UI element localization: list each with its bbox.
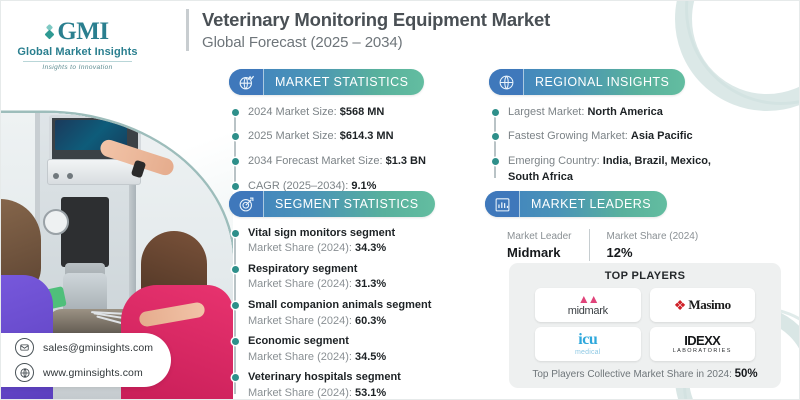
regional-insights-list: Largest Market: North America Fastest Gr… [489, 105, 740, 187]
brand-full-name: Global Market Insights [15, 46, 140, 58]
list-item: 2025 Market Size: $614.3 MN [248, 129, 426, 145]
bullet-dot-icon [232, 158, 239, 165]
region-label: Emerging Country: [508, 155, 600, 167]
brand-tagline: Insights to Innovation [15, 64, 140, 71]
list-item: Small companion animals segment Market S… [248, 298, 435, 329]
market-leader-share-block: Market Share (2024) 12% [589, 229, 716, 262]
market-statistics-list: 2024 Market Size: $568 MN 2025 Market Si… [229, 105, 426, 196]
list-item: Veterinary hospitals segment Market Shar… [248, 370, 435, 400]
bullet-dot-icon [492, 158, 499, 165]
player-logo-masimo[interactable]: ❖ Masimo [650, 288, 756, 322]
market-leaders-label: MARKET LEADERS [519, 191, 667, 217]
masimo-mark-icon: ❖ [674, 298, 687, 312]
segment-share-value: 34.5% [355, 351, 386, 363]
region-value: North America [587, 106, 662, 118]
list-item: Emerging Country: India, Brazil, Mexico,… [508, 154, 740, 186]
top-players-title: TOP PLAYERS [519, 270, 771, 282]
page-title: Veterinary Monitoring Equipment Market [202, 9, 550, 31]
midmark-mark-icon: ▲▲ [578, 293, 598, 305]
list-item: 2024 Market Size: $568 MN [248, 105, 426, 121]
idexx-logo: IDEXX LABORATORIES [673, 334, 732, 355]
segment-share-label: Market Share (2024): [248, 351, 352, 363]
segment-name: Economic segment [248, 334, 435, 350]
segment-statistics-list: Vital sign monitors segment Market Share… [229, 226, 435, 400]
top-players-collective-share: Top Players Collective Market Share in 2… [519, 368, 771, 380]
segment-name: Small companion animals segment [248, 298, 435, 314]
brand-name: GMI [57, 19, 108, 44]
envelope-icon [15, 338, 34, 357]
page-title-block: Veterinary Monitoring Equipment Market G… [186, 9, 550, 51]
bullet-dot-icon [492, 109, 499, 116]
segment-share-label: Market Share (2024): [248, 315, 352, 327]
segment-share-label: Market Share (2024): [248, 242, 352, 254]
player-logo-icu-medical[interactable]: icu medical [535, 327, 641, 361]
segment-name: Respiratory segment [248, 262, 435, 278]
stat-label: 2024 Market Size: [248, 106, 337, 118]
player-name: midmark [568, 306, 608, 317]
contact-email-row[interactable]: sales@gminsights.com [15, 338, 171, 357]
bullet-dot-icon [232, 302, 239, 309]
list-item: Fastest Growing Market: Asia Pacific [508, 129, 740, 145]
list-item: Respiratory segment Market Share (2024):… [248, 262, 435, 293]
regional-insights-section: REGIONAL INSIGHTS Largest Market: North … [489, 69, 740, 186]
segment-statistics-section: SEGMENT STATISTICS Vital sign monitors s… [229, 191, 435, 400]
bullet-dot-icon [232, 109, 239, 116]
globe-icon [489, 69, 523, 95]
list-item: Largest Market: North America [508, 105, 740, 121]
top-players-grid: ▲▲ midmark ❖ Masimo icu medical IDEXX [519, 288, 771, 361]
segment-share-value: 31.3% [355, 278, 386, 290]
stat-label: 2034 Forecast Market Size: [248, 155, 383, 167]
regional-insights-header: REGIONAL INSIGHTS [489, 69, 685, 95]
list-connector-line [234, 111, 235, 188]
region-value: Asia Pacific [631, 130, 693, 142]
bullet-dot-icon [232, 133, 239, 140]
player-name: icu [578, 332, 597, 348]
player-name: Masimo [688, 297, 730, 313]
gmi-diamond-icon [46, 25, 53, 38]
segment-share-value: 53.1% [355, 387, 386, 399]
list-connector-line [494, 111, 495, 179]
contact-website-row[interactable]: www.gminsights.com [15, 363, 171, 382]
stat-label: 2025 Market Size: [248, 130, 337, 142]
list-item: Vital sign monitors segment Market Share… [248, 226, 435, 257]
market-statistics-section: MARKET STATISTICS 2024 Market Size: $568… [229, 69, 426, 195]
stat-value: $614.3 MN [340, 130, 394, 142]
collective-share-label: Top Players Collective Market Share in 2… [532, 369, 732, 380]
market-leader-block: Market Leader Midmark [507, 229, 589, 262]
player-name-sub: LABORATORIES [673, 349, 732, 355]
player-logo-midmark[interactable]: ▲▲ midmark [535, 288, 641, 322]
logo-divider [23, 61, 132, 62]
contact-strip: sales@gminsights.com www.gminsights.com [1, 333, 171, 387]
contact-website: www.gminsights.com [43, 367, 143, 379]
icu-medical-logo: icu medical [575, 332, 601, 356]
segment-name: Veterinary hospitals segment [248, 370, 435, 386]
bullet-dot-icon [232, 183, 239, 190]
market-leader-name: Midmark [507, 244, 571, 262]
market-statistics-label: MARKET STATISTICS [263, 69, 424, 95]
segment-share-value: 34.3% [355, 242, 386, 254]
player-logo-idexx[interactable]: IDEXX LABORATORIES [650, 327, 756, 361]
bullet-dot-icon [232, 338, 239, 345]
list-item: Economic segment Market Share (2024): 34… [248, 334, 435, 365]
bullet-dot-icon [232, 374, 239, 381]
player-name: IDEXX [684, 334, 720, 347]
bullet-dot-icon [492, 133, 499, 140]
segment-statistics-header: SEGMENT STATISTICS [229, 191, 435, 217]
top-players-card: TOP PLAYERS ▲▲ midmark ❖ Masimo icu medi… [509, 263, 781, 388]
segment-share-label: Market Share (2024): [248, 387, 352, 399]
player-name-sub: medical [575, 349, 601, 356]
infographic-canvas: GMI Global Market Insights Insights to I… [0, 0, 800, 400]
market-leader-share-label: Market Share (2024) [606, 229, 698, 244]
market-leaders-header: MARKET LEADERS [485, 191, 667, 217]
segment-name: Vital sign monitors segment [248, 226, 435, 242]
segment-share-label: Market Share (2024): [248, 278, 352, 290]
brand-logo: GMI Global Market Insights Insights to I… [15, 19, 140, 71]
stat-value: $1.3 BN [386, 155, 426, 167]
bar-chart-building-icon [485, 191, 519, 217]
midmark-logo: ▲▲ midmark [568, 293, 608, 317]
contact-email: sales@gminsights.com [43, 342, 153, 354]
masimo-logo: ❖ Masimo [674, 297, 731, 313]
region-label: Fastest Growing Market: [508, 130, 628, 142]
globe-chart-icon [229, 69, 263, 95]
market-leader-label: Market Leader [507, 229, 571, 244]
market-leaders-section: MARKET LEADERS Market Leader Midmark Mar… [485, 191, 716, 261]
collective-share-value: 50% [735, 368, 758, 380]
logo-lockup: GMI [15, 19, 140, 44]
bullet-dot-icon [232, 230, 239, 237]
list-connector-line [234, 232, 235, 394]
list-item: 2034 Forecast Market Size: $1.3 BN [248, 154, 426, 170]
globe-icon [15, 363, 34, 382]
region-label: Largest Market: [508, 106, 584, 118]
segment-statistics-label: SEGMENT STATISTICS [263, 191, 435, 217]
stat-value: $568 MN [340, 106, 385, 118]
market-statistics-header: MARKET STATISTICS [229, 69, 424, 95]
market-leader-share-value: 12% [606, 244, 698, 262]
segment-share-value: 60.3% [355, 315, 386, 327]
target-chart-icon [229, 191, 263, 217]
regional-insights-label: REGIONAL INSIGHTS [523, 69, 685, 95]
bullet-dot-icon [232, 266, 239, 273]
market-leader-details: Market Leader Midmark Market Share (2024… [485, 229, 716, 262]
page-subtitle: Global Forecast (2025 – 2034) [202, 34, 550, 51]
